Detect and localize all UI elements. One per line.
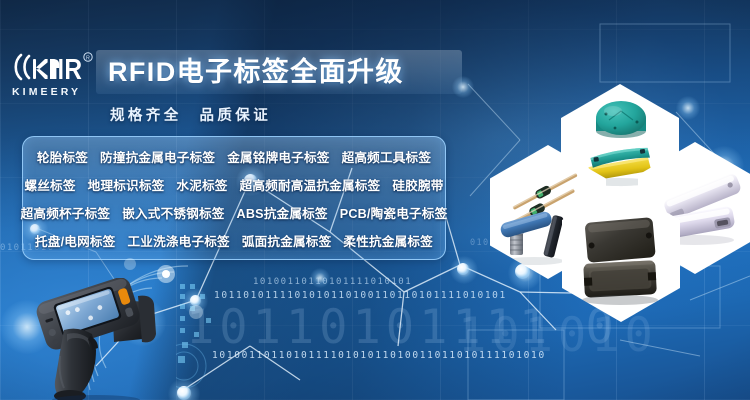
- tag-row: 超高频杯子标签 嵌入式不锈钢标签 ABS抗金属标签 PCB/陶瓷电子标签: [23, 203, 445, 222]
- tag-item[interactable]: 柔性抗金属标签: [343, 231, 433, 250]
- svg-text:R: R: [86, 56, 90, 62]
- rfid-promo-banner: 10110101111 0 101010 1011010111101010110…: [0, 0, 750, 400]
- tag-item[interactable]: 地理标识标签: [88, 175, 165, 194]
- tag-item[interactable]: 超高频杯子标签: [21, 203, 111, 222]
- tag-item[interactable]: 嵌入式不锈钢标签: [122, 203, 224, 222]
- tag-item[interactable]: 防撞抗金属电子标签: [100, 147, 215, 166]
- tag-item[interactable]: 轮胎标签: [37, 147, 88, 166]
- logo-mark-kmr: R: [12, 50, 96, 84]
- tag-item[interactable]: ABS抗金属标签: [237, 203, 328, 222]
- glow-node-k: [676, 96, 700, 120]
- tag-item[interactable]: 超高频工具标签: [342, 147, 432, 166]
- glow-node-m: [310, 268, 330, 288]
- tag-item[interactable]: 托盘/电网标签: [35, 231, 115, 250]
- tag-item[interactable]: 超高频耐高温抗金属标签: [240, 175, 381, 194]
- tag-item[interactable]: 工业洗涤电子标签: [127, 231, 229, 250]
- logo-brand-name: KIMEERY: [12, 86, 96, 98]
- kimeery-logo: R KIMEERY: [12, 50, 96, 104]
- tag-item[interactable]: PCB/陶瓷电子标签: [340, 203, 448, 222]
- handheld-reader-illustration: [34, 278, 170, 400]
- tag-category-panel: 轮胎标签 防撞抗金属电子标签 金属铭牌电子标签 超高频工具标签 螺丝标签 地理标…: [22, 136, 446, 260]
- tag-item[interactable]: 硅胶腕带: [392, 175, 443, 194]
- kmr-monogram-icon: R: [12, 50, 96, 84]
- page-subtitle: 规格齐全 品质保证: [110, 104, 271, 125]
- tag-item[interactable]: 金属铭牌电子标签: [227, 147, 329, 166]
- handheld-rfid-reader[interactable]: [34, 278, 152, 390]
- tag-row: 轮胎标签 防撞抗金属电子标签 金属铭牌电子标签 超高频工具标签: [23, 147, 445, 166]
- tag-item[interactable]: 水泥标签: [176, 175, 227, 194]
- node-dot-f: [457, 263, 469, 275]
- tag-row: 托盘/电网标签 工业洗涤电子标签 弧面抗金属标签 柔性抗金属标签: [23, 231, 445, 250]
- page-title: RFID电子标签全面升级: [108, 51, 458, 93]
- tag-row: 螺丝标签 地理标识标签 水泥标签 超高频耐高温抗金属标签 硅胶腕带: [23, 175, 445, 194]
- tag-item[interactable]: 螺丝标签: [24, 175, 75, 194]
- tag-item[interactable]: 弧面抗金属标签: [242, 231, 332, 250]
